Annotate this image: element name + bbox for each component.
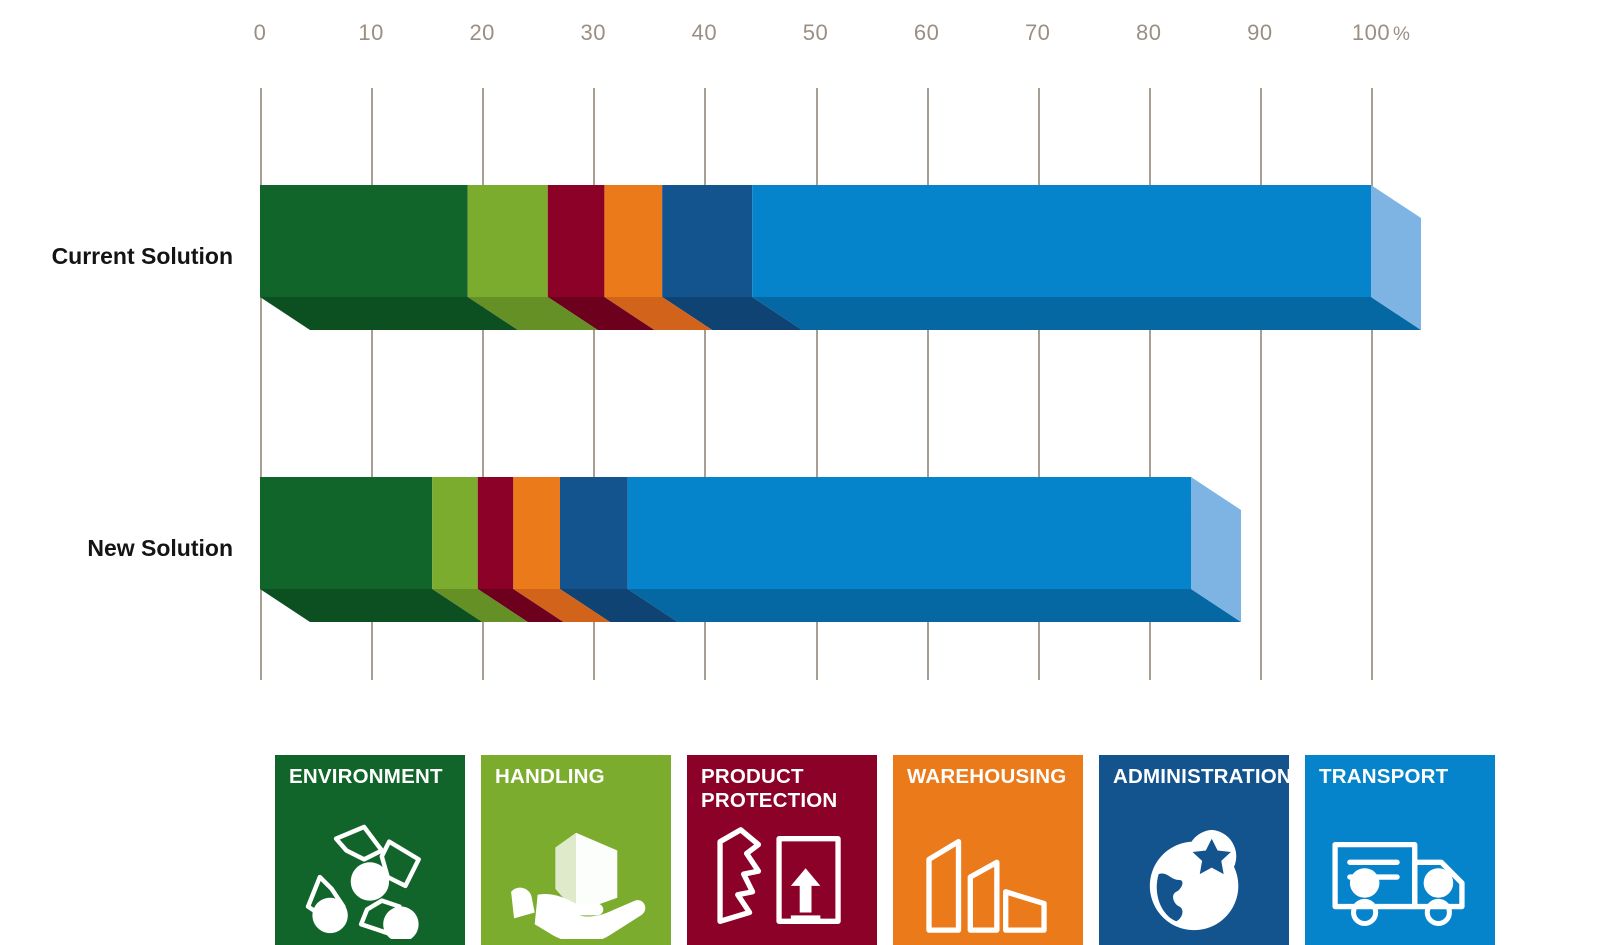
bar-0-segment-3 bbox=[604, 185, 662, 297]
bar-1-segment-5 bbox=[628, 477, 1191, 589]
hand-package-icon bbox=[501, 821, 651, 939]
bar-1-segment-2 bbox=[478, 477, 514, 589]
warehouse-icon bbox=[913, 821, 1063, 939]
bar-0-segment-0 bbox=[260, 185, 468, 297]
bar-1-segment-4 bbox=[560, 477, 628, 589]
legend-item-label: PRODUCT PROTECTION bbox=[701, 765, 869, 813]
legend-item-label: HANDLING bbox=[495, 765, 663, 789]
bar-0-depth-5 bbox=[752, 297, 1421, 330]
legend-item-warehousing[interactable]: WAREHOUSING bbox=[893, 755, 1083, 945]
bar-1-segment-3 bbox=[513, 477, 560, 589]
globe-pin-icon bbox=[1119, 821, 1269, 939]
bar-0-segment-5 bbox=[752, 185, 1371, 297]
chart-root: 0102030405060708090100% Current Solution… bbox=[0, 0, 1620, 945]
bar-0-segment-4 bbox=[662, 185, 752, 297]
damaged-box-icon bbox=[707, 821, 857, 939]
legend-item-label: ADMINISTRATION bbox=[1113, 765, 1281, 789]
bar-0-segment-1 bbox=[468, 185, 548, 297]
bar-1-segment-0 bbox=[260, 477, 432, 589]
legend-item-label: WAREHOUSING bbox=[907, 765, 1075, 789]
bar-0-segment-2 bbox=[548, 185, 605, 297]
legend-item-transport[interactable]: TRANSPORT bbox=[1305, 755, 1495, 945]
legend-item-label: TRANSPORT bbox=[1319, 765, 1487, 789]
legend-item-label: ENVIRONMENT bbox=[289, 765, 457, 789]
legend-item-environment[interactable]: ENVIRONMENT bbox=[275, 755, 465, 945]
recycle-icon bbox=[295, 821, 445, 939]
bar-1-depth-5 bbox=[628, 589, 1241, 622]
legend-item-product-protection[interactable]: PRODUCT PROTECTION bbox=[687, 755, 877, 945]
bar-1-segment-1 bbox=[432, 477, 478, 589]
truck-icon bbox=[1325, 821, 1475, 939]
legend-item-administration[interactable]: ADMINISTRATION bbox=[1099, 755, 1289, 945]
chart-legend: ENVIRONMENT HANDLING PRODUCT PROTECTI bbox=[275, 755, 1525, 945]
legend-item-handling[interactable]: HANDLING bbox=[481, 755, 671, 945]
